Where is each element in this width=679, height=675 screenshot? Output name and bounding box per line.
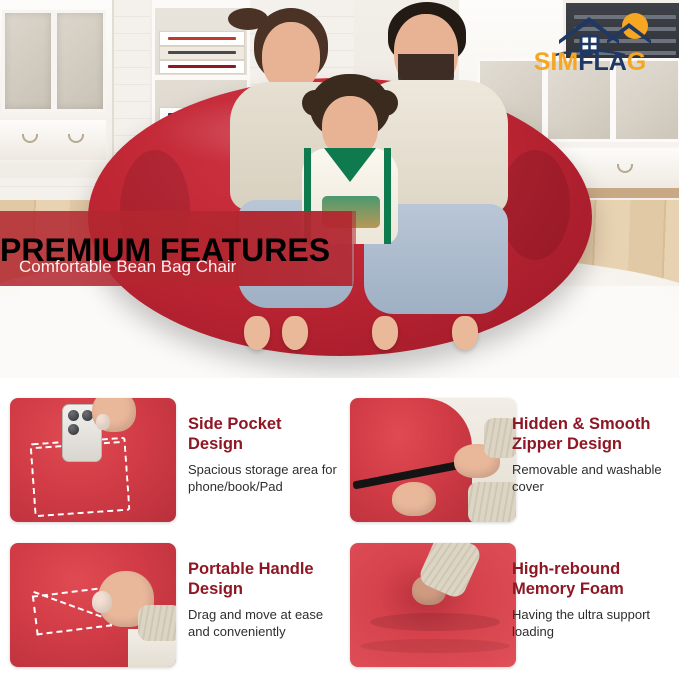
feature-desc: Spacious storage area for phone/book/Pad: [188, 461, 338, 495]
feature-card-handle[interactable]: Portable Handle Design Drag and move at …: [0, 535, 339, 675]
feature-grid: Side Pocket Design Spacious storage area…: [0, 390, 679, 670]
hero-image: NASA: [0, 0, 679, 378]
feature-title: High-rebound Memory Foam: [512, 559, 679, 599]
feature-card-memory-foam[interactable]: High-rebound Memory Foam Having the ultr…: [340, 535, 679, 675]
feature-title: Side Pocket Design: [188, 414, 338, 454]
left-cabinet: [0, 0, 114, 178]
brand-wordmark: SIMFLAG: [534, 48, 647, 72]
hero-subtitle: Comfortable Bean Bag Chair: [19, 255, 236, 279]
feature-card-zipper[interactable]: Hidden & Smooth Zipper Design Removable …: [340, 390, 679, 530]
product-feature-page: NASA: [0, 0, 679, 670]
feature-image-handle: [10, 543, 176, 667]
feature-title: Hidden & Smooth Zipper Design: [512, 414, 679, 454]
feature-image-zipper: [350, 398, 516, 522]
feature-desc: Drag and move at ease and conveniently: [188, 606, 338, 640]
feature-card-side-pocket[interactable]: Side Pocket Design Spacious storage area…: [0, 390, 339, 530]
feature-desc: Removable and washable cover: [512, 461, 679, 495]
feature-image-side-pocket: [10, 398, 176, 522]
feature-title: Portable Handle Design: [188, 559, 338, 599]
feature-image-memory-foam: [350, 543, 516, 667]
brand-logo: SIMFLAG: [511, 10, 669, 72]
feature-desc: Having the ultra support loading: [512, 606, 679, 640]
